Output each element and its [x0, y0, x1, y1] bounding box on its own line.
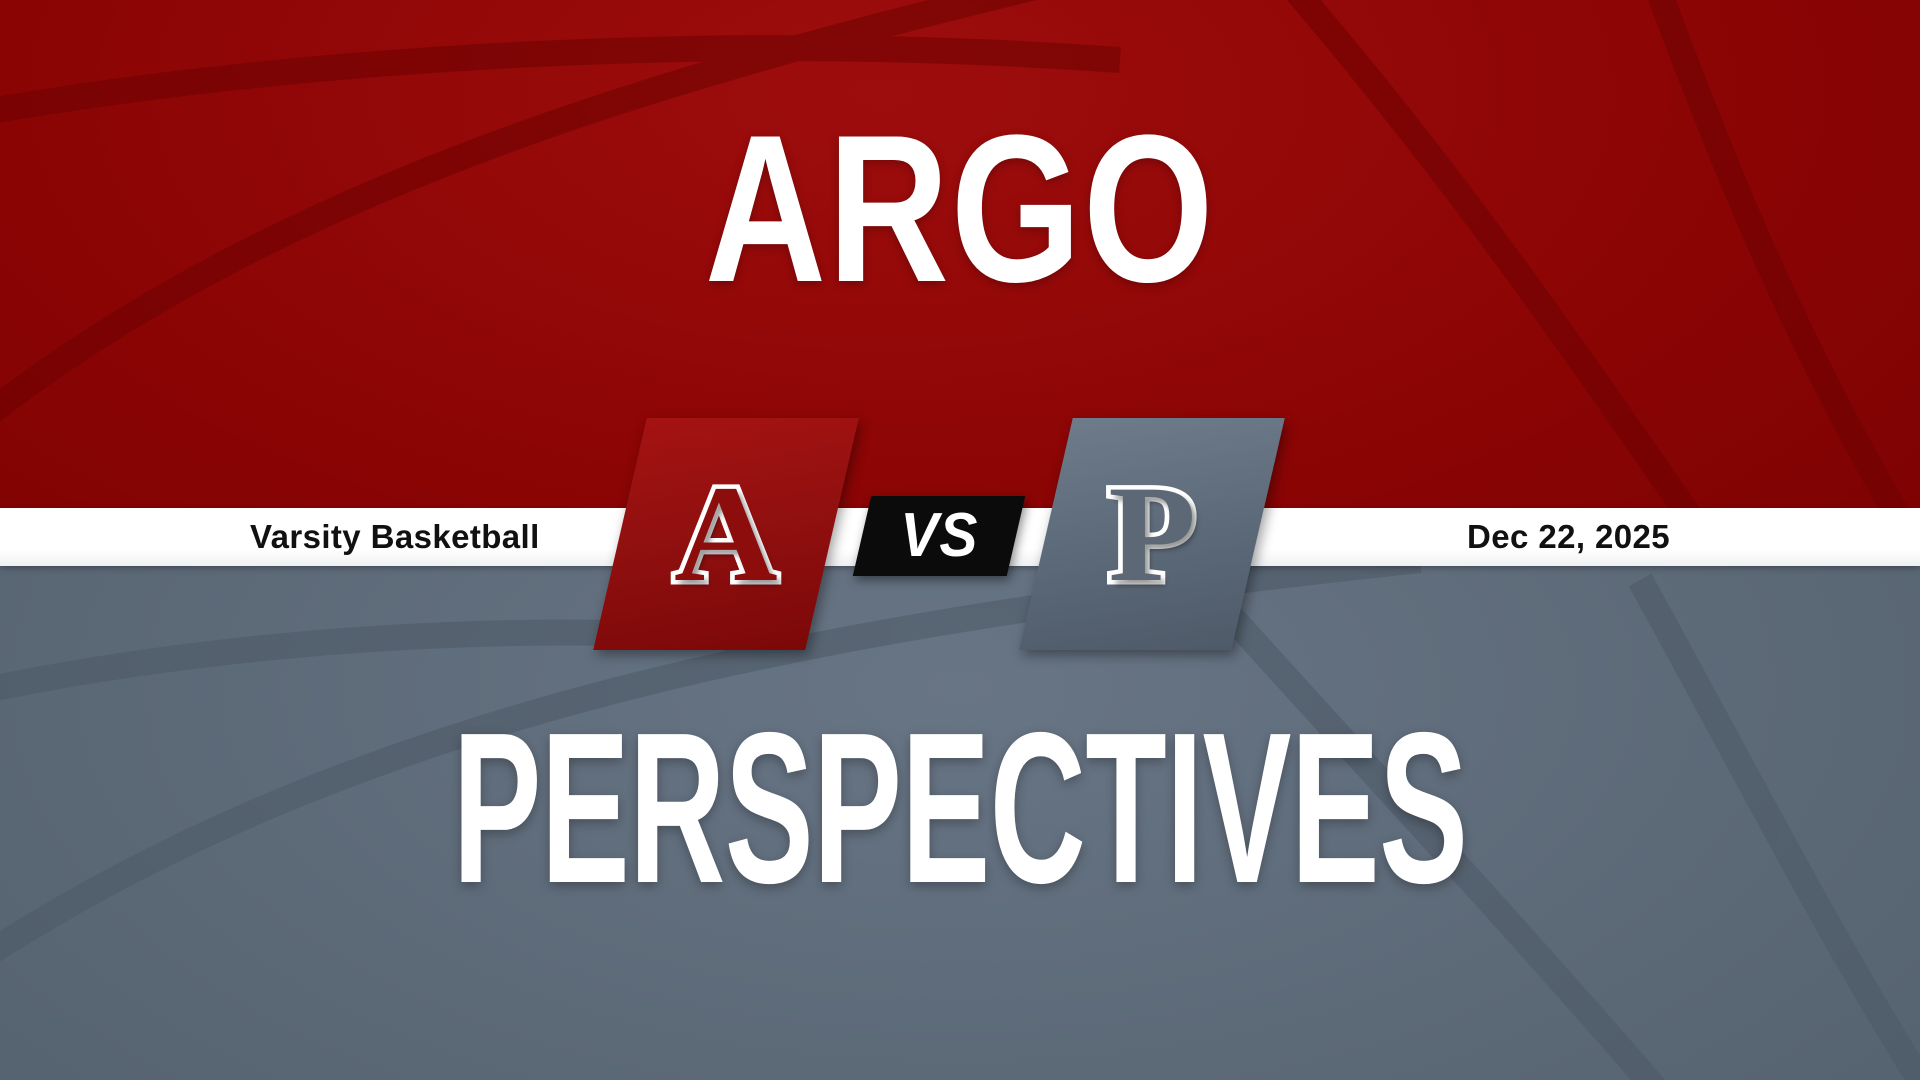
away-team-glyph: P [1046, 418, 1258, 650]
versus-plate: VS [853, 496, 1025, 576]
series-title: PERSPECTIVES [365, 700, 1555, 915]
away-team-plate: P [1019, 418, 1285, 650]
home-team-initial: A [674, 465, 778, 603]
date-label: Dec 22, 2025 [1467, 508, 1670, 566]
versus-label: VS [900, 505, 978, 567]
program-title: ARGO [192, 104, 1728, 314]
matchup-graphic: ARGO PERSPECTIVES Varsity Basketball Dec… [0, 0, 1920, 1080]
versus-glyph: VS [862, 496, 1016, 576]
home-team-plate: A [593, 418, 859, 650]
home-team-glyph: A [620, 418, 832, 650]
sport-label: Varsity Basketball [250, 508, 540, 566]
away-team-initial: P [1108, 465, 1196, 603]
